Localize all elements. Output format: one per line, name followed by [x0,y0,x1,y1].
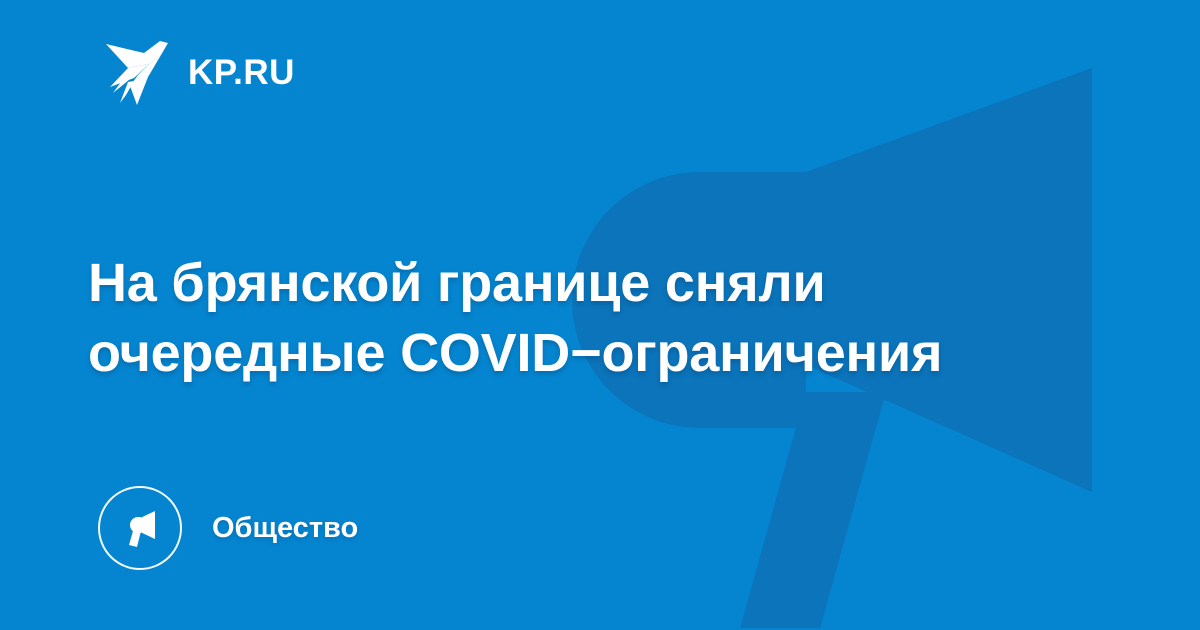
brand-wordmark: KP.RU [188,55,295,90]
swallow-bird-icon [104,37,170,107]
rubric[interactable]: Общество [98,484,358,572]
megaphone-icon [98,486,182,570]
social-share-card: KP.RU На брянской границе сняли очередны… [0,0,1200,630]
rubric-label: Общество [212,514,358,543]
page-title: На брянской границе сняли очередные COVI… [88,248,1088,388]
brand-header[interactable]: KP.RU [104,34,295,110]
